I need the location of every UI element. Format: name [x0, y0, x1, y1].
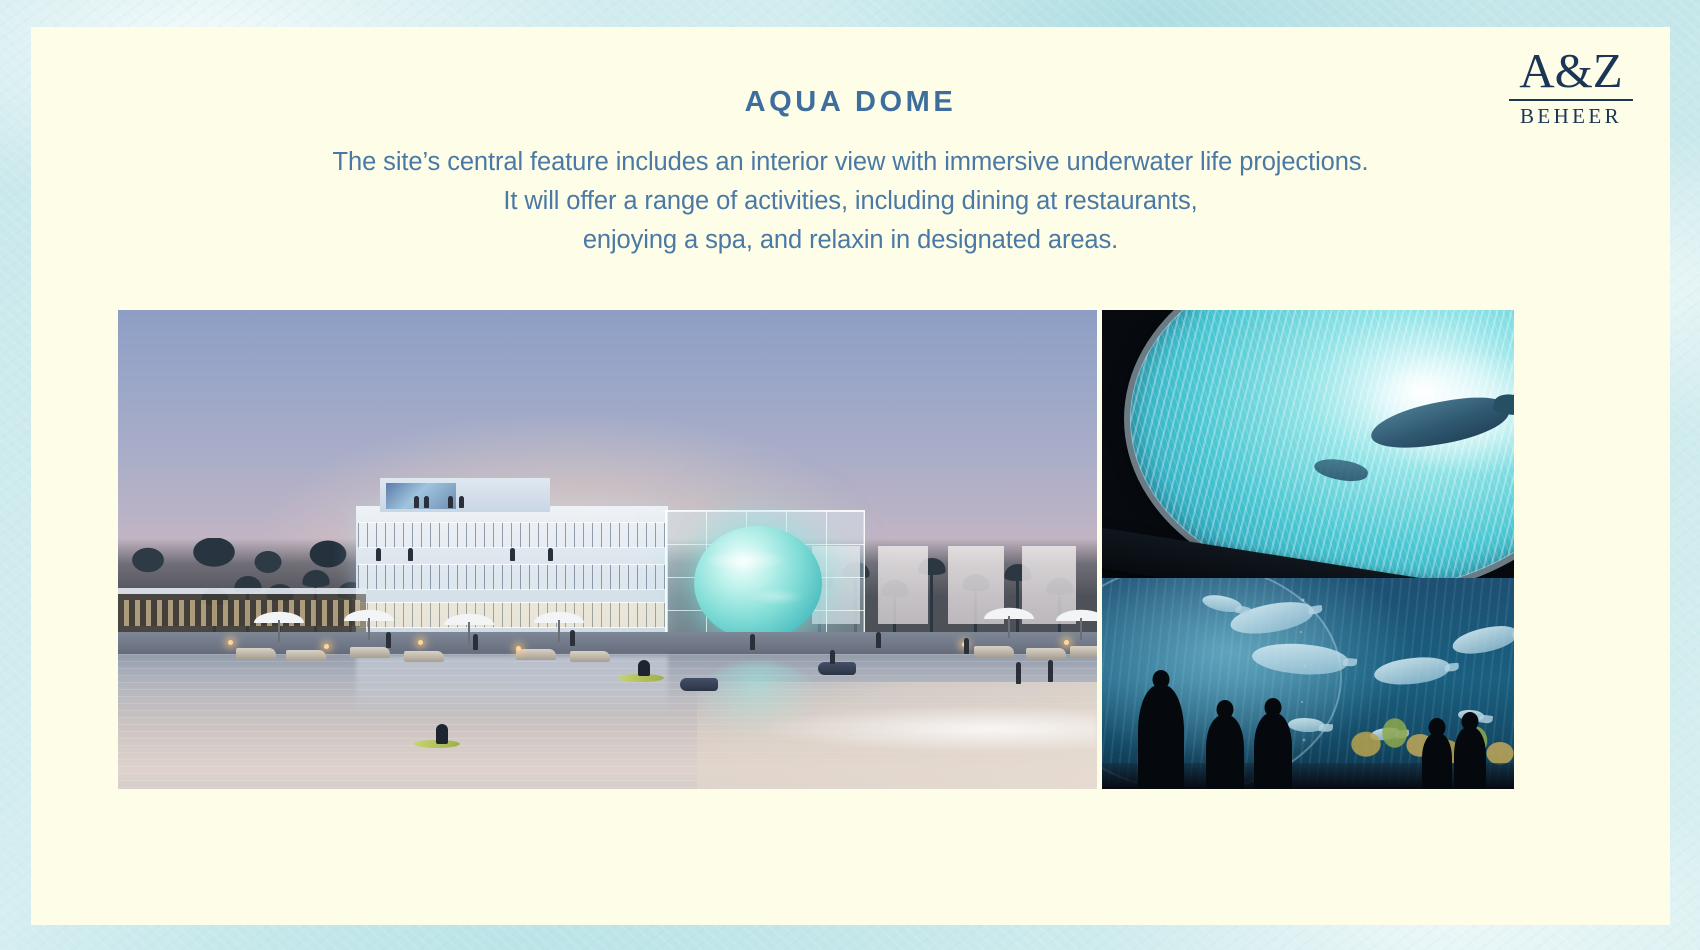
rooftop-person [448, 496, 453, 508]
visitor-silhouette [1254, 713, 1292, 789]
building-floor-2 [358, 564, 666, 590]
beach-umbrella [530, 610, 588, 644]
visitor-silhouette [1206, 715, 1244, 789]
sun-lounger [974, 646, 1014, 657]
beach-person [473, 634, 478, 650]
sun-lounger [516, 649, 556, 660]
jet-ski-rider [830, 650, 835, 664]
beach-person [964, 638, 969, 654]
sun-lounger [1026, 648, 1066, 659]
rooftop-led-screen [386, 483, 456, 509]
rooftop-person [414, 496, 419, 508]
sun-lounger [1070, 646, 1097, 657]
terrace-person [510, 548, 515, 561]
page-title: AQUA DOME [31, 86, 1670, 119]
image-gallery [118, 310, 1514, 789]
path-lamp [1064, 640, 1069, 645]
sun-lounger [286, 650, 326, 661]
beach-umbrella [980, 606, 1038, 640]
beach-person [876, 632, 881, 648]
description-line-1: The site’s central feature includes an i… [31, 143, 1670, 182]
building-ground-floor [358, 602, 666, 628]
aquarium-tunnel-image [1102, 310, 1514, 789]
beach-person [1048, 660, 1053, 682]
terrace-person [376, 548, 381, 561]
terrace-person [548, 548, 553, 561]
description-line-3: enjoying a spa, and relaxin in designate… [31, 221, 1670, 260]
rooftop-person [424, 496, 429, 508]
visitor-silhouette [1454, 727, 1486, 789]
building-floor-1 [358, 522, 666, 548]
beach-umbrella [440, 612, 498, 646]
beach-person [1016, 662, 1021, 684]
visitor-silhouette [1138, 685, 1184, 789]
visitor-silhouette [1422, 733, 1452, 789]
sun-lounger [404, 651, 444, 662]
terrace-person [408, 548, 413, 561]
left-pavilion [118, 588, 366, 634]
path-lamp [418, 640, 423, 645]
beach-person [386, 632, 391, 648]
kayaker [638, 660, 650, 676]
aqua-dome-sphere [694, 526, 822, 640]
beach-person [750, 634, 755, 650]
description-line-2: It will offer a range of activities, inc… [31, 182, 1670, 221]
beach-person [570, 630, 575, 646]
sun-lounger [236, 648, 276, 659]
beach-umbrella [250, 610, 308, 644]
aquarium-viewing-gallery [1102, 578, 1514, 789]
path-lamp [228, 640, 233, 645]
slide-panel: A&Z BEHEER AQUA DOME The site’s central … [31, 27, 1670, 925]
dolphin-swimming [1450, 622, 1514, 657]
beach-umbrella [1052, 608, 1097, 642]
jet-ski [818, 662, 856, 675]
jet-ski [680, 678, 718, 691]
building-reflection [356, 656, 668, 716]
kayaker [436, 724, 448, 744]
description-text: The site’s central feature includes an i… [31, 143, 1670, 260]
path-lamp [516, 646, 521, 651]
sun-lounger [570, 651, 610, 662]
exterior-render-image [118, 310, 1097, 789]
dolphin-swimming [1373, 655, 1451, 686]
shoreline-surf [717, 694, 1097, 764]
path-lamp [324, 644, 329, 649]
sun-lounger [350, 647, 390, 658]
rooftop-person [459, 496, 464, 508]
